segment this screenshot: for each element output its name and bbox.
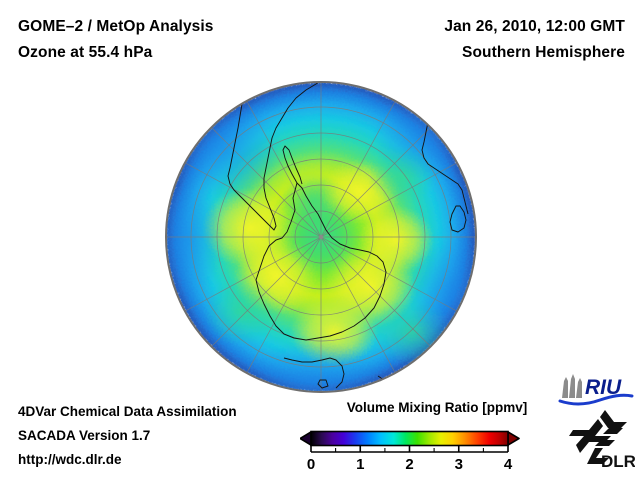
colorbar-block: Volume Mixing Ratio [ppmv]: [300, 400, 560, 473]
credit-version: SACADA Version 1.7: [18, 424, 338, 448]
hemisphere-label: Southern Hemisphere: [295, 40, 625, 66]
colorbar-tick-1: 1: [356, 456, 364, 473]
riu-logo: RIU: [558, 372, 634, 406]
colorbar-tick-0: 0: [307, 456, 315, 473]
colorbar-graphic: 0 1 2 3 4: [300, 421, 560, 473]
colorbar-tick-4: 4: [504, 456, 513, 473]
credit-url[interactable]: http://wdc.dlr.de: [18, 448, 338, 472]
riu-tower-icon: [562, 374, 582, 398]
dlr-logo: DLR: [565, 408, 635, 470]
credits-block: 4DVar Chemical Data Assimilation SACADA …: [18, 400, 338, 472]
header-right-block: Jan 26, 2010, 12:00 GMT Southern Hemisph…: [295, 14, 625, 66]
colorbar-tick-2: 2: [405, 456, 413, 473]
credit-method: 4DVar Chemical Data Assimilation: [18, 400, 338, 424]
globe-svg: [164, 80, 478, 394]
south-pole-marker: [319, 235, 323, 239]
polar-projection-globe: [164, 80, 478, 394]
colorbar-tick-labels: 0 1 2 3 4: [307, 456, 513, 473]
colorbar-tick-3: 3: [455, 456, 463, 473]
riu-logo-text: RIU: [585, 376, 622, 399]
colorbar-title: Volume Mixing Ratio [ppmv]: [314, 400, 560, 416]
colorbar-extend-max-arrow: [508, 432, 519, 445]
dlr-logo-text: DLR: [601, 452, 635, 470]
colorbar-gradient: [311, 432, 508, 446]
timestamp-label: Jan 26, 2010, 12:00 GMT: [295, 14, 625, 40]
colorbar-extend-min-arrow: [300, 432, 311, 445]
